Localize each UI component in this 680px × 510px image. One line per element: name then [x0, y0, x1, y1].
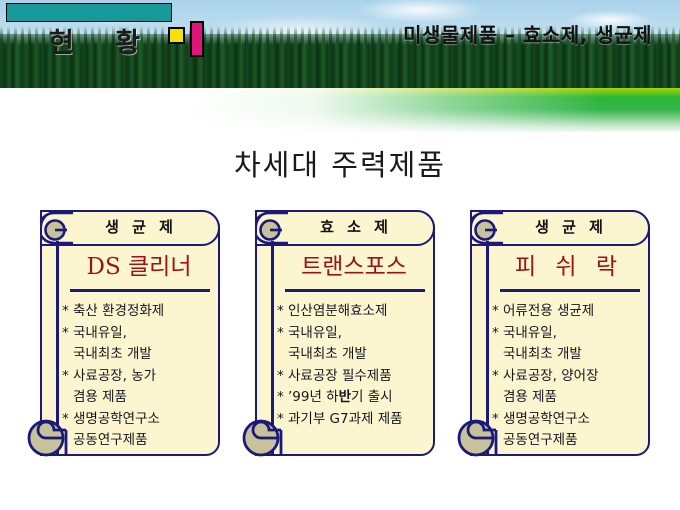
card-feature-item: 국내최초 개발 [277, 344, 435, 366]
card-title-underline [285, 289, 425, 292]
card-feature-item: *인산염분해효소제 [277, 301, 435, 323]
scroll-curl-bottom [26, 413, 78, 461]
card-feature-text: ’99년 하반기 출시 [288, 389, 393, 405]
card-feature-text: 국내유일, [73, 325, 127, 341]
card-feature-text: 겸용 제품 [503, 389, 557, 405]
card-feature-item: *사료공장, 양어장 [492, 366, 650, 388]
scroll-curl-bottom [456, 413, 508, 461]
scroll-curl-top [470, 210, 504, 246]
bullet-star-icon: * [277, 323, 288, 345]
card-feature-text: 사료공장 필수제품 [288, 368, 392, 384]
presentation-slide: 현 황 미생물제품 – 효소제, 생균제 차세대 주력제품 생 균 제DS 클리… [0, 0, 680, 510]
bullet-star-icon: * [62, 323, 73, 345]
card-title-underline [70, 289, 210, 292]
card-feature-item: 겸용 제품 [492, 387, 650, 409]
card-feature-text: 생명공학연구소 [73, 411, 160, 427]
card-feature-list: *어류전용 생균제*국내유일,국내최초 개발*사료공장, 양어장겸용 제품*생명… [492, 301, 650, 452]
bullet-star-icon: * [62, 366, 73, 388]
bullet-star-icon: * [277, 366, 288, 388]
card-feature-item: 국내최초 개발 [62, 344, 220, 366]
card-feature-text: 축산 환경정화제 [73, 303, 164, 319]
card-feature-text: 국내최초 개발 [288, 346, 367, 362]
card-feature-item: 겸용 제품 [62, 387, 220, 409]
card-category-label: 생 균 제 [498, 212, 644, 243]
card-feature-list: *인산염분해효소제*국내유일,국내최초 개발*사료공장 필수제품*’99년 하반… [277, 301, 435, 430]
card-feature-item: *국내유일, [62, 323, 220, 345]
scroll-curl-top [40, 210, 74, 246]
card-feature-item: 공동연구제품 [62, 430, 220, 452]
card-title-underline [500, 289, 640, 292]
slide-header-title: 미생물제품 – 효소제, 생균제 [403, 22, 652, 48]
card-feature-item: *’99년 하반기 출시 [277, 387, 435, 409]
bullet-star-icon: * [277, 301, 288, 323]
card-feature-text: 과기부 G7과제 제품 [288, 411, 403, 427]
card-product-name: DS 클리너 [60, 249, 218, 285]
card-product-name: 피 쉬 락 [490, 249, 648, 285]
card-category-label: 효 소 제 [283, 212, 429, 243]
bullet-star-icon: * [492, 366, 503, 388]
scroll-curl-bottom-icon [26, 413, 78, 461]
card-category-label: 생 균 제 [68, 212, 214, 243]
card-feature-text: 공동연구제품 [73, 432, 148, 448]
bullet-star-icon: * [492, 323, 503, 345]
card-feature-text: 국내유일, [288, 325, 342, 341]
card-feature-item: *사료공장, 농가 [62, 366, 220, 388]
card-feature-text: 사료공장, 농가 [73, 368, 156, 384]
card-feature-item: *축산 환경정화제 [62, 301, 220, 323]
scroll-curl-bottom-icon [456, 413, 508, 461]
card-feature-list: *축산 환경정화제*국내유일,국내최초 개발*사료공장, 농가겸용 제품*생명공… [62, 301, 220, 452]
magenta-bar-accent [190, 21, 204, 57]
card-feature-text: 인산염분해효소제 [288, 303, 387, 319]
card-feature-text: 생명공학연구소 [503, 411, 590, 427]
scroll-curl-top [255, 210, 289, 246]
card-feature-text: 사료공장, 양어장 [503, 368, 599, 384]
scroll-curl-top-icon [40, 210, 74, 246]
bullet-star-icon: * [277, 387, 288, 409]
bullet-star-icon: * [62, 301, 73, 323]
yellow-square-accent [168, 27, 185, 44]
card-feature-text: 공동연구제품 [503, 432, 578, 448]
card-feature-item: *과기부 G7과제 제품 [277, 409, 435, 431]
card-feature-text: 겸용 제품 [73, 389, 127, 405]
scroll-curl-top-icon [255, 210, 289, 246]
card-feature-text: 어류전용 생균제 [503, 303, 594, 319]
card-feature-item: *국내유일, [492, 323, 650, 345]
product-card-list: 생 균 제DS 클리너*축산 환경정화제*국내유일,국내최초 개발*사료공장, … [0, 205, 680, 470]
card-feature-item: 공동연구제품 [492, 430, 650, 452]
bullet-star-icon: * [492, 301, 503, 323]
scroll-curl-bottom [241, 413, 293, 461]
banner-bottom-fade [0, 96, 680, 132]
card-feature-item: *사료공장 필수제품 [277, 366, 435, 388]
product-card: 효 소 제트랜스포스*인산염분해효소제*국내유일,국내최초 개발*사료공장 필수… [245, 205, 435, 463]
scroll-curl-top-icon [470, 210, 504, 246]
card-feature-text: 국내유일, [503, 325, 557, 341]
section-label: 현 황 [35, 24, 170, 64]
card-feature-item: *어류전용 생균제 [492, 301, 650, 323]
header-banner-image: 현 황 미생물제품 – 효소제, 생균제 [0, 0, 680, 132]
card-product-name: 트랜스포스 [275, 249, 433, 285]
product-card: 생 균 제피 쉬 락*어류전용 생균제*국내유일,국내최초 개발*사료공장, 양… [460, 205, 650, 463]
page-title: 차세대 주력제품 [0, 142, 680, 184]
card-feature-item: *생명공학연구소 [62, 409, 220, 431]
card-feature-emphasis: 반 [339, 389, 351, 405]
card-feature-item: *생명공학연구소 [492, 409, 650, 431]
teal-accent-bar [6, 3, 172, 22]
card-feature-text: 국내최초 개발 [503, 346, 582, 362]
card-feature-item: *국내유일, [277, 323, 435, 345]
scroll-curl-bottom-icon [241, 413, 293, 461]
card-feature-item: 국내최초 개발 [492, 344, 650, 366]
card-feature-text: 국내최초 개발 [73, 346, 152, 362]
product-card: 생 균 제DS 클리너*축산 환경정화제*국내유일,국내최초 개발*사료공장, … [30, 205, 220, 463]
